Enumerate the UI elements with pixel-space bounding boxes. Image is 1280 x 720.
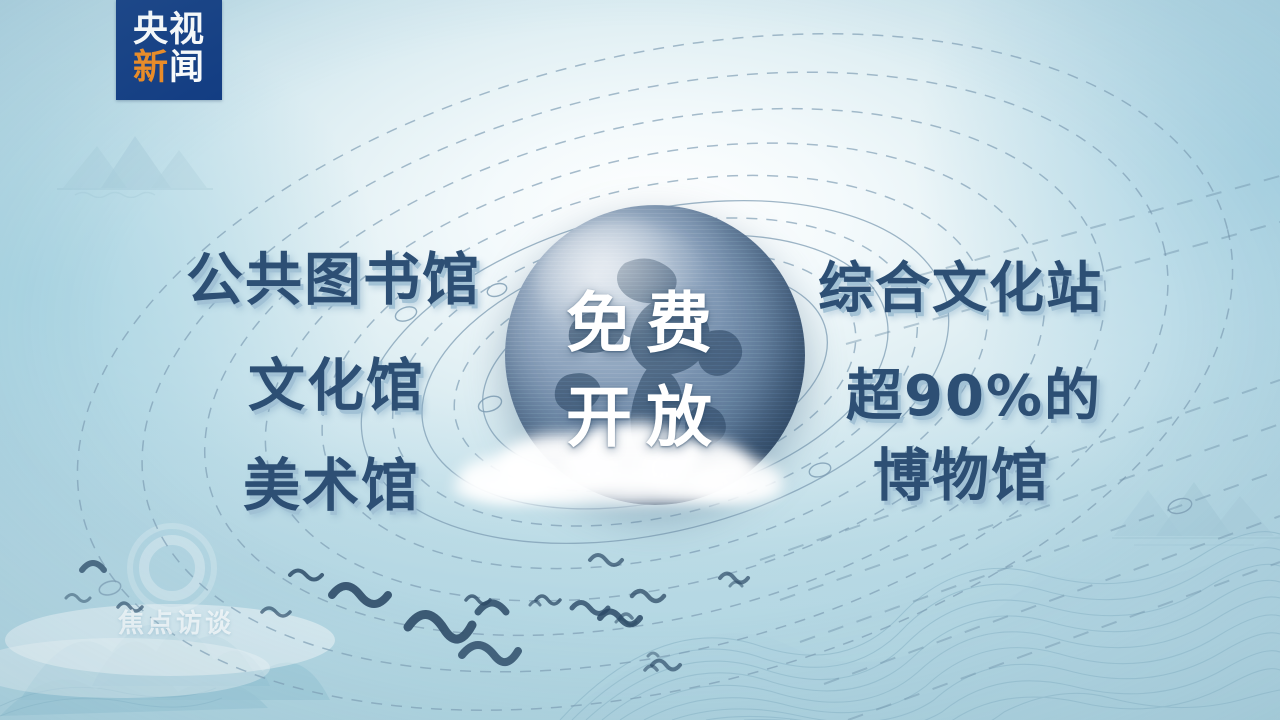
- keyword-art-museum: 美术馆: [243, 440, 420, 522]
- keyword-culture-center: 文化馆: [248, 340, 425, 422]
- headline-line-2: 开放: [566, 364, 726, 460]
- headline-line-1: 免费: [566, 270, 726, 366]
- keyword-comprehensive-culture-station: 综合文化站: [818, 243, 1103, 323]
- logo-text-xin: 新: [133, 51, 169, 87]
- program-watermark: 焦点访谈: [118, 603, 234, 640]
- logo-text-yangshi: 央视: [133, 13, 205, 49]
- logo-line-1: 央视: [133, 13, 205, 49]
- keyword-public-library: 公共图书馆: [186, 234, 481, 316]
- broadcast-graphic-frame: 央视 新 闻 公共图书馆 文化馆 美术馆 综合文化站 超90%的 博物馆 免费 …: [0, 0, 1280, 720]
- keyword-over-90-percent: 超90%的: [846, 351, 1102, 432]
- keyword-museum: 博物馆: [873, 430, 1050, 512]
- logo-text-wen: 闻: [169, 51, 205, 87]
- cctv-news-logo: 央视 新 闻: [116, 0, 222, 100]
- logo-line-2: 新 闻: [133, 51, 205, 87]
